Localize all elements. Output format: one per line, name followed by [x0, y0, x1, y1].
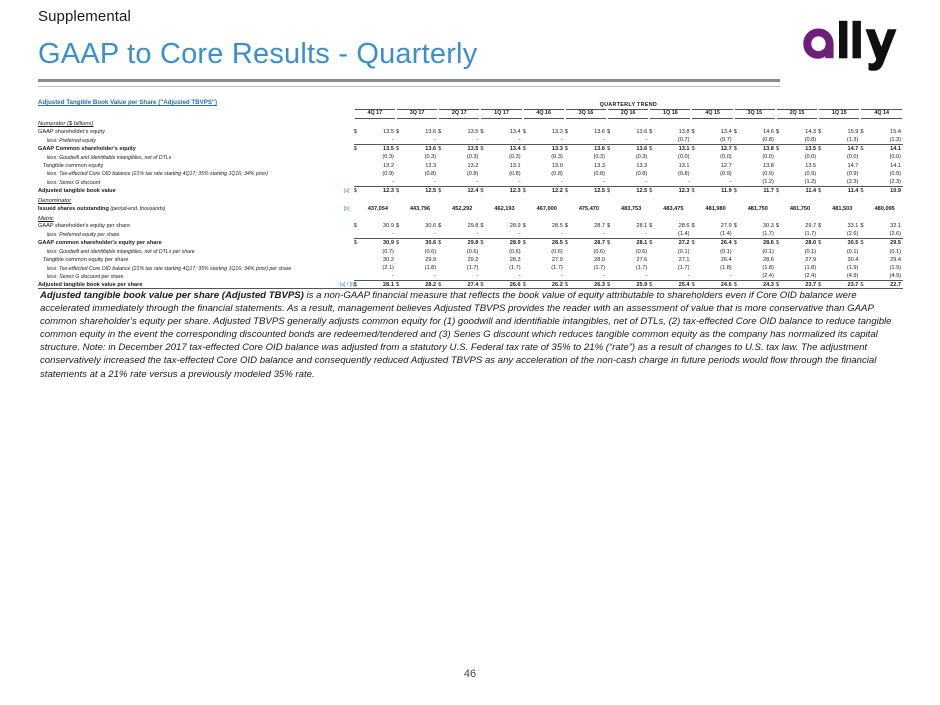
- cell-value: -: [531, 272, 565, 280]
- currency-symbol: $: [691, 239, 699, 247]
- currency-symbol: [649, 161, 657, 169]
- currency-symbol: [354, 247, 362, 255]
- currency-symbol: [354, 178, 362, 186]
- table-row: Tangible common equity per share30.229.9…: [38, 255, 903, 263]
- row-label: Adjusted tangible book value per share: [38, 281, 340, 289]
- cell-value: (0.1): [657, 247, 691, 255]
- cell-value: 481,503: [826, 204, 860, 212]
- currency-symbol: $: [818, 281, 826, 289]
- currency-symbol: $: [776, 128, 784, 136]
- cell-value: -: [362, 136, 396, 144]
- cell-value: 14.6: [742, 128, 776, 136]
- currency-symbol: [649, 230, 657, 238]
- cell-value: (0.7): [362, 247, 396, 255]
- spacer-cell: [691, 118, 699, 127]
- cell-value: 27.2: [657, 239, 691, 247]
- cell-value: 11.4: [784, 186, 818, 194]
- cell-value: 30.9: [362, 239, 396, 247]
- ally-logo: [796, 20, 904, 72]
- spacer-cell: [700, 195, 734, 204]
- currency-symbol: [691, 170, 699, 178]
- currency-symbol: [354, 204, 362, 212]
- cell-value: 28.5: [531, 222, 565, 230]
- cell-value: 13.4: [488, 128, 522, 136]
- spacer-cell: [818, 118, 826, 127]
- spacer-cell: [573, 212, 607, 221]
- cell-value: -: [700, 178, 734, 186]
- cell-value: (2.4): [742, 272, 776, 280]
- cell-value: (0.0): [784, 153, 818, 161]
- currency-symbol: $: [649, 144, 657, 152]
- currency-symbol: [860, 264, 868, 272]
- currency-symbol: $: [734, 222, 742, 230]
- currency-symbol: [523, 153, 531, 161]
- currency-symbol: [396, 153, 404, 161]
- column-header-4q17: 4Q 17: [354, 110, 396, 119]
- currency-symbol: [565, 153, 573, 161]
- currency-symbol: $: [607, 186, 615, 194]
- currency-symbol: [523, 272, 531, 280]
- cell-value: (0.1): [868, 247, 903, 255]
- spacer-cell: [446, 212, 480, 221]
- cell-value: 13.2: [446, 161, 480, 169]
- cell-value: 13.3: [404, 161, 438, 169]
- column-header-4q15: 4Q 15: [691, 110, 733, 119]
- currency-symbol: $: [607, 144, 615, 152]
- section-title: Adjusted Tangible Book Value per Share (…: [38, 100, 354, 110]
- currency-symbol: [649, 247, 657, 255]
- cell-value: 12.2: [531, 186, 565, 194]
- currency-symbol: [523, 255, 531, 263]
- cell-value: 15.4: [868, 128, 903, 136]
- spacer-cell: [531, 118, 565, 127]
- spacer-cell: [573, 118, 607, 127]
- currency-symbol: $: [480, 186, 488, 194]
- cell-value: 30.6: [404, 222, 438, 230]
- currency-symbol: $: [523, 128, 531, 136]
- cell-value: 13.1: [657, 144, 691, 152]
- row-label: GAAP shareholder's equity: [38, 128, 340, 136]
- currency-symbol: [607, 255, 615, 263]
- spacer-cell: [734, 195, 742, 204]
- table-row: less: Series G discount per share-------…: [38, 272, 903, 280]
- cell-value: -: [615, 272, 649, 280]
- spacer-cell: [396, 195, 404, 204]
- currency-symbol: $: [565, 144, 573, 152]
- cell-value: 13.5: [362, 128, 396, 136]
- currency-symbol: [734, 170, 742, 178]
- cell-value: 27.9: [700, 222, 734, 230]
- cell-value: (1.7): [657, 264, 691, 272]
- currency-symbol: [396, 161, 404, 169]
- row-label: Issued shares outstanding (period-end, t…: [38, 204, 340, 212]
- cell-value: 26.3: [573, 281, 607, 289]
- currency-symbol: [396, 230, 404, 238]
- row-footnote-ref: [a] / [b]: [340, 281, 354, 289]
- cell-value: 27.6: [615, 255, 649, 263]
- cell-value: (2.6): [868, 230, 903, 238]
- cell-value: 14.7: [826, 144, 860, 152]
- cell-value: -: [404, 230, 438, 238]
- cell-value: 12.5: [573, 186, 607, 194]
- spacer-cell: [615, 195, 649, 204]
- cell-value: (0.9): [700, 170, 734, 178]
- currency-symbol: [691, 153, 699, 161]
- cell-value: 437,054: [362, 204, 396, 212]
- cell-value: -: [488, 272, 522, 280]
- table-row: less: Preferred equity per share-------(…: [38, 230, 903, 238]
- currency-symbol: [818, 153, 826, 161]
- cell-value: 26.6: [488, 281, 522, 289]
- spacer-cell: [438, 118, 446, 127]
- cell-value: (1.2): [784, 178, 818, 186]
- cell-value: -: [573, 272, 607, 280]
- currency-symbol: [818, 136, 826, 144]
- currency-symbol: $: [438, 281, 446, 289]
- cell-value: (0.1): [700, 247, 734, 255]
- cell-value: 29.9: [404, 255, 438, 263]
- cell-value: (1.8): [700, 264, 734, 272]
- row-footnote-ref: [340, 178, 354, 186]
- currency-symbol: [860, 170, 868, 178]
- spacer-cell: [354, 118, 362, 127]
- spacer-cell: [607, 212, 615, 221]
- currency-symbol: [607, 153, 615, 161]
- cell-value: (0.0): [657, 153, 691, 161]
- spacer-cell: [488, 118, 522, 127]
- spacer-cell: [776, 118, 784, 127]
- cell-value: 12.3: [657, 186, 691, 194]
- cell-value: 13.8: [657, 128, 691, 136]
- cell-value: 26.2: [531, 281, 565, 289]
- currency-symbol: [523, 136, 531, 144]
- spacer-cell: [396, 118, 404, 127]
- cell-value: 13.4: [488, 144, 522, 152]
- cell-value: 30.4: [826, 255, 860, 263]
- currency-symbol: [396, 178, 404, 186]
- currency-symbol: $: [776, 186, 784, 194]
- currency-symbol: [860, 136, 868, 144]
- row-label: less: Tax-effected Core OID balance (21%…: [38, 264, 340, 272]
- currency-symbol: [480, 255, 488, 263]
- cell-value: -: [531, 136, 565, 144]
- spacer-cell: [488, 212, 522, 221]
- currency-symbol: $: [354, 144, 362, 152]
- currency-symbol: [607, 247, 615, 255]
- spacer-cell: [340, 118, 354, 127]
- row-label: Adjusted tangible book value: [38, 186, 340, 194]
- currency-symbol: $: [354, 222, 362, 230]
- spacer-cell: [362, 195, 396, 204]
- currency-symbol: [438, 161, 446, 169]
- cell-value: -: [488, 136, 522, 144]
- cell-value: 33.1: [826, 222, 860, 230]
- currency-symbol: $: [523, 144, 531, 152]
- table-row: less: Series G discount---------(1.2)(1.…: [38, 178, 903, 186]
- row-footnote-ref: [340, 230, 354, 238]
- spacer-cell: [734, 212, 742, 221]
- cell-value: -: [488, 178, 522, 186]
- cell-value: 22.7: [868, 281, 903, 289]
- cell-value: -: [446, 136, 480, 144]
- currency-symbol: [565, 161, 573, 169]
- cell-value: 27.1: [657, 255, 691, 263]
- currency-symbol: $: [396, 186, 404, 194]
- currency-symbol: [480, 247, 488, 255]
- cell-value: (4.9): [868, 272, 903, 280]
- cell-value: (0.1): [742, 247, 776, 255]
- cell-value: 13.6: [615, 128, 649, 136]
- cell-value: 28.1: [362, 281, 396, 289]
- cell-value: 13.0: [531, 161, 565, 169]
- cell-value: 29.7: [784, 222, 818, 230]
- currency-symbol: $: [480, 222, 488, 230]
- cell-value: 30.5: [826, 239, 860, 247]
- group-heading-row: Denominator: [38, 195, 903, 204]
- row-label: less: Preferred equity per share: [38, 230, 340, 238]
- column-header-2q15: 2Q 15: [776, 110, 818, 119]
- cell-value: (1.2): [742, 178, 776, 186]
- group-heading-numerator: Numerator ($ billions): [38, 118, 340, 127]
- spacer-cell: [523, 212, 531, 221]
- currency-symbol: $: [776, 239, 784, 247]
- spacer-cell: [868, 195, 903, 204]
- currency-symbol: [523, 230, 531, 238]
- currency-symbol: [691, 247, 699, 255]
- cell-value: (0.8): [404, 170, 438, 178]
- cell-value: (0.0): [868, 153, 903, 161]
- currency-symbol: [523, 170, 531, 178]
- row-label: less: Series G discount per share: [38, 272, 340, 280]
- currency-symbol: $: [649, 281, 657, 289]
- cell-value: 29.8: [446, 239, 480, 247]
- spacer-cell: [446, 118, 480, 127]
- cell-value: 12.7: [700, 144, 734, 152]
- spacer-cell: [742, 118, 776, 127]
- currency-symbol: [480, 136, 488, 144]
- spacer-cell: [488, 195, 522, 204]
- cell-value: 13.8: [742, 144, 776, 152]
- currency-symbol: [734, 136, 742, 144]
- row-footnote-ref: [340, 128, 354, 136]
- cell-value: 14.1: [868, 161, 903, 169]
- cell-value: 13.3: [573, 161, 607, 169]
- spacer-cell: [446, 195, 480, 204]
- column-header-3q17: 3Q 17: [396, 110, 438, 119]
- cell-value: -: [446, 230, 480, 238]
- cell-value: 10.9: [868, 186, 903, 194]
- currency-symbol: $: [818, 144, 826, 152]
- cell-value: 481,980: [700, 204, 734, 212]
- cell-value: -: [657, 272, 691, 280]
- spacer-cell: [396, 212, 404, 221]
- currency-symbol: $: [649, 186, 657, 194]
- spacer-cell: [362, 118, 396, 127]
- currency-symbol: [691, 272, 699, 280]
- currency-symbol: $: [607, 128, 615, 136]
- table-row: Adjusted tangible book value[a]$12.3$12.…: [38, 186, 903, 194]
- spacer-cell: [860, 118, 868, 127]
- cell-value: 483,475: [657, 204, 691, 212]
- cell-value: -: [404, 272, 438, 280]
- spacer-cell: [531, 195, 565, 204]
- cell-value: 13.5: [784, 144, 818, 152]
- currency-symbol: [354, 255, 362, 263]
- spacer-cell: [826, 195, 860, 204]
- spacer-cell: [480, 118, 488, 127]
- cell-value: 32.1: [868, 222, 903, 230]
- cell-value: (0.0): [742, 153, 776, 161]
- currency-symbol: $: [396, 222, 404, 230]
- cell-value: (0.3): [446, 153, 480, 161]
- cell-value: 12.5: [615, 186, 649, 194]
- currency-symbol: $: [396, 144, 404, 152]
- cell-value: (0.8): [446, 170, 480, 178]
- row-footnote-ref: [b]: [340, 204, 354, 212]
- cell-value: (0.9): [784, 170, 818, 178]
- cell-value: 13.6: [573, 144, 607, 152]
- cell-value: (0.8): [742, 136, 776, 144]
- cell-value: (0.0): [700, 153, 734, 161]
- currency-symbol: $: [818, 128, 826, 136]
- currency-symbol: $: [860, 186, 868, 194]
- currency-symbol: [523, 204, 531, 212]
- cell-value: 12.4: [446, 186, 480, 194]
- currency-symbol: [776, 230, 784, 238]
- currency-symbol: $: [354, 281, 362, 289]
- row-label: less: Preferred equity: [38, 136, 340, 144]
- currency-symbol: $: [354, 128, 362, 136]
- currency-symbol: [396, 247, 404, 255]
- currency-symbol: [734, 230, 742, 238]
- cell-value: -: [615, 230, 649, 238]
- cell-value: (0.7): [657, 136, 691, 144]
- currency-symbol: [860, 161, 868, 169]
- cell-value: (1.7): [573, 264, 607, 272]
- currency-symbol: $: [480, 239, 488, 247]
- cell-value: 467,000: [531, 204, 565, 212]
- cell-value: (2.3): [868, 178, 903, 186]
- spacer-cell: [565, 195, 573, 204]
- adjusted-tbvps-table: Adjusted Tangible Book Value per Share (…: [38, 100, 904, 289]
- currency-symbol: $: [607, 281, 615, 289]
- cell-value: -: [531, 230, 565, 238]
- currency-symbol: [691, 204, 699, 212]
- row-label: Tangible common equity: [38, 161, 340, 169]
- cell-value: 28.3: [488, 255, 522, 263]
- cell-value: (0.0): [826, 153, 860, 161]
- currency-symbol: [607, 264, 615, 272]
- currency-symbol: [818, 272, 826, 280]
- currency-symbol: [396, 170, 404, 178]
- row-footnote-ref: [340, 161, 354, 169]
- column-header-2q17: 2Q 17: [438, 110, 480, 119]
- currency-symbol: [438, 255, 446, 263]
- cell-value: 23.7: [784, 281, 818, 289]
- column-header-4q14: 4Q 14: [860, 110, 903, 119]
- currency-symbol: [523, 264, 531, 272]
- cell-value: 28.2: [404, 281, 438, 289]
- cell-value: (0.7): [700, 136, 734, 144]
- currency-symbol: [818, 170, 826, 178]
- spacer-cell: [657, 212, 691, 221]
- currency-symbol: [438, 264, 446, 272]
- cell-value: (0.3): [362, 153, 396, 161]
- spacer-cell: [438, 212, 446, 221]
- currency-symbol: [565, 272, 573, 280]
- spacer-cell: [649, 212, 657, 221]
- cell-value: 28.9: [488, 239, 522, 247]
- spacer-cell: [607, 195, 615, 204]
- cell-value: 13.1: [488, 161, 522, 169]
- cell-value: 475,470: [573, 204, 607, 212]
- currency-symbol: [776, 255, 784, 263]
- currency-symbol: $: [734, 128, 742, 136]
- cell-value: (1.9): [868, 264, 903, 272]
- currency-symbol: [860, 247, 868, 255]
- spacer-cell: [607, 118, 615, 127]
- currency-symbol: $: [776, 281, 784, 289]
- column-header-row: 4Q 173Q 172Q 171Q 174Q 163Q 162Q 161Q 16…: [38, 110, 903, 119]
- cell-value: -: [700, 272, 734, 280]
- row-label-note: (period-end, thousands): [109, 206, 166, 212]
- currency-symbol: [565, 255, 573, 263]
- cell-value: 14.1: [868, 144, 903, 152]
- spacer-cell: [354, 195, 362, 204]
- currency-symbol: [776, 178, 784, 186]
- currency-symbol: [691, 178, 699, 186]
- spacer-cell: [565, 212, 573, 221]
- currency-symbol: [480, 204, 488, 212]
- currency-symbol: $: [396, 239, 404, 247]
- cell-value: (0.9): [868, 170, 903, 178]
- spacer-cell: [742, 212, 776, 221]
- cell-value: 13.2: [362, 161, 396, 169]
- spacer-cell: [523, 118, 531, 127]
- currency-symbol: [607, 136, 615, 144]
- cell-value: -: [615, 178, 649, 186]
- cell-value: 15.9: [826, 128, 860, 136]
- column-header-1q17: 1Q 17: [480, 110, 522, 119]
- currency-symbol: [649, 272, 657, 280]
- spacer-cell: [860, 195, 868, 204]
- cell-value: 13.3: [615, 161, 649, 169]
- cell-value: (2.4): [784, 272, 818, 280]
- cell-value: 28.9: [488, 222, 522, 230]
- currency-symbol: [776, 170, 784, 178]
- cell-value: 13.3: [531, 144, 565, 152]
- cell-value: 12.7: [700, 161, 734, 169]
- currency-symbol: [438, 178, 446, 186]
- currency-symbol: [354, 153, 362, 161]
- cell-value: (0.3): [615, 153, 649, 161]
- cell-value: -: [573, 136, 607, 144]
- cell-value: 28.6: [742, 239, 776, 247]
- currency-symbol: [734, 178, 742, 186]
- currency-symbol: [776, 153, 784, 161]
- cell-value: 13.3: [531, 128, 565, 136]
- currency-symbol: [860, 255, 868, 263]
- currency-symbol: $: [565, 281, 573, 289]
- cell-value: -: [657, 178, 691, 186]
- cell-value: (0.9): [362, 170, 396, 178]
- spacer-cell: [691, 212, 699, 221]
- currency-symbol: [734, 264, 742, 272]
- currency-symbol: $: [480, 128, 488, 136]
- cell-value: -: [446, 272, 480, 280]
- spacer-cell: [615, 212, 649, 221]
- table-row: GAAP shareholder's equity per share$30.9…: [38, 222, 903, 230]
